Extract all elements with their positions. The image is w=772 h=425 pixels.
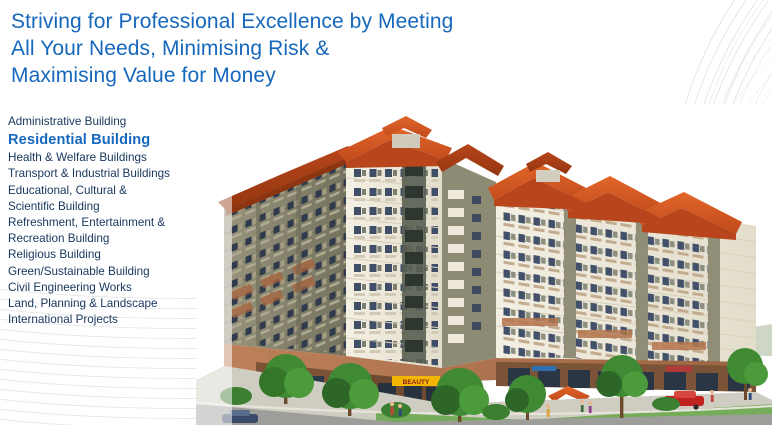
list-item-transport-industrial-buildings[interactable]: Transport & Industrial Buildings <box>8 166 213 182</box>
building-category-list: Administrative Building Residential Buil… <box>8 114 213 328</box>
list-item-educational-cultural-line1[interactable]: Educational, Cultural & <box>8 183 213 199</box>
building-centre-block <box>338 116 452 369</box>
list-item-international-projects[interactable]: International Projects <box>8 312 213 328</box>
slide-canvas: Striving for Professional Excellence by … <box>0 0 772 425</box>
apartment-complex-illustration: BEAUTY <box>196 104 772 425</box>
list-item-refreshment-entertainment-line1[interactable]: Refreshment, Entertainment & <box>8 215 213 231</box>
list-item-administrative-building[interactable]: Administrative Building <box>8 114 213 130</box>
page-title: Striving for Professional Excellence by … <box>11 8 611 89</box>
list-item-residential-building[interactable]: Residential Building <box>8 130 213 150</box>
residential-building-image: BEAUTY <box>196 104 772 425</box>
list-item-educational-cultural-line2[interactable]: Scientific Building <box>8 199 213 215</box>
list-item-land-planning-landscape[interactable]: Land, Planning & Landscape <box>8 296 213 312</box>
list-item-refreshment-entertainment-line2[interactable]: Recreation Building <box>8 231 213 247</box>
list-item-green-sustainable-building[interactable]: Green/Sustainable Building <box>8 264 213 280</box>
list-item-religious-building[interactable]: Religious Building <box>8 247 213 263</box>
list-item-health-welfare-buildings[interactable]: Health & Welfare Buildings <box>8 150 213 166</box>
list-item-civil-engineering-works[interactable]: Civil Engineering Works <box>8 280 213 296</box>
shop-sign-label: BEAUTY <box>403 379 430 386</box>
